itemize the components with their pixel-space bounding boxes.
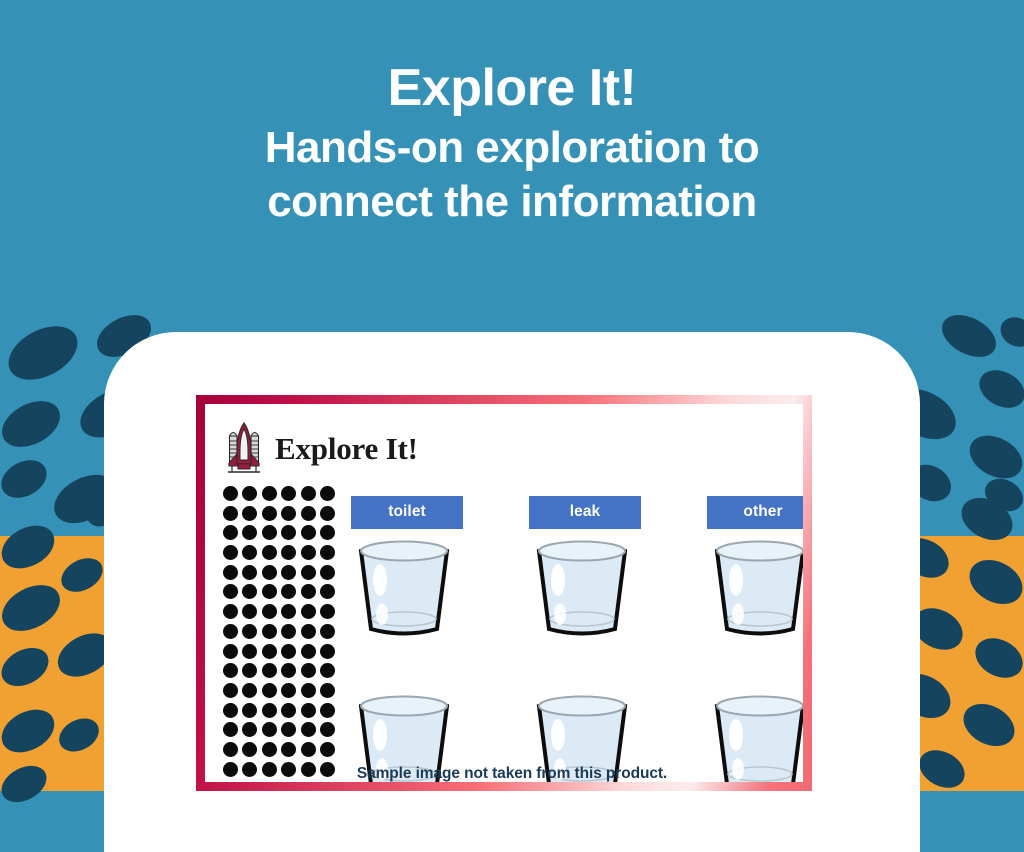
grid-dot [320,604,335,619]
grid-dot [301,722,316,737]
grid-dot [242,604,257,619]
grid-dot [223,683,238,698]
grid-dot [223,565,238,580]
grid-dot [320,663,335,678]
grid-dot [301,565,316,580]
grid-dot [320,486,335,501]
grid-dot [301,545,316,560]
grid-dot [320,683,335,698]
grid-dot [223,703,238,718]
grid-dot [281,624,296,639]
grid-dot [242,703,257,718]
grid-dot [242,545,257,560]
sample-image-caption: Sample image not taken from this product… [0,765,1024,783]
page-subtitle-line-1: Hands-on exploration to [265,123,760,172]
grid-dot [301,525,316,540]
grid-dot [301,506,316,521]
grid-dot [262,565,277,580]
grid-dot [242,506,257,521]
grid-dot [242,683,257,698]
grid-dot [223,644,238,659]
grid-dot [281,604,296,619]
grid-dot [301,703,316,718]
grid-dot [320,565,335,580]
grid-dot [242,584,257,599]
grid-dot [320,644,335,659]
grid-dot [320,584,335,599]
category-label-toilet[interactable]: toilet [351,496,463,529]
category-label-leak[interactable]: leak [529,496,641,529]
page-subtitle-line-2: connect the information [267,177,757,226]
grid-dot [262,525,277,540]
worksheet-page: Explore It! toilet [205,404,803,782]
grid-dot [320,703,335,718]
water-glass-icon [529,539,635,639]
grid-dot [281,742,296,757]
grid-dot [242,663,257,678]
grid-dot [301,486,316,501]
grid-dot [301,644,316,659]
grid-dot [262,703,277,718]
grid-dot [223,663,238,678]
grid-dot [320,525,335,540]
grid-dot [242,565,257,580]
confetti-ellipse [956,696,1022,755]
grid-dot [262,683,277,698]
counter-dot-grid [223,486,339,781]
grid-dot [223,584,238,599]
grid-dot [223,545,238,560]
glass-slot[interactable] [529,539,641,639]
grid-dot [301,624,316,639]
grid-dot [242,644,257,659]
category-label-other[interactable]: other [707,496,803,529]
grid-dot [262,604,277,619]
confetti-ellipse [962,427,1024,487]
space-shuttle-icon [227,422,261,474]
worksheet-frame: Explore It! toilet [196,395,812,791]
grid-dot [301,584,316,599]
category-column-toilet: toilet [351,496,463,782]
confetti-ellipse [935,306,1003,365]
grid-dot [223,604,238,619]
grid-dot [223,525,238,540]
grid-dot [281,506,296,521]
grid-dot [281,722,296,737]
grid-dot [281,545,296,560]
grid-dot [223,742,238,757]
grid-dot [301,683,316,698]
grid-dot [281,663,296,678]
grid-dot [262,584,277,599]
grid-dot [301,742,316,757]
grid-dot [320,722,335,737]
grid-dot [320,624,335,639]
grid-dot [281,644,296,659]
grid-dot [281,486,296,501]
grid-dot [281,525,296,540]
grid-dot [242,624,257,639]
grid-dot [223,486,238,501]
grid-dot [262,545,277,560]
confetti-ellipse [995,312,1024,353]
grid-dot [242,486,257,501]
grid-dot [242,722,257,737]
grid-dot [262,663,277,678]
grid-dot [281,683,296,698]
grid-dot [281,584,296,599]
grid-dot [262,644,277,659]
grid-dot [262,486,277,501]
headline-block: Explore It! Hands-on exploration toconne… [0,62,1024,228]
water-glass-icon [707,539,803,639]
page-subtitle: Hands-on exploration toconnect the infor… [0,121,1024,228]
grid-dot [320,545,335,560]
grid-dot [262,722,277,737]
confetti-ellipse [968,630,1024,685]
grid-dot [223,506,238,521]
category-column-leak: leak [529,496,641,782]
grid-dot [223,722,238,737]
grid-dot [320,742,335,757]
grid-dot [301,663,316,678]
category-columns: toilet [351,496,793,782]
water-glass-icon [351,539,457,639]
grid-dot [281,703,296,718]
grid-dot [242,742,257,757]
category-column-other: other [707,496,803,782]
confetti-ellipse [973,363,1024,416]
page-title: Explore It! [0,62,1024,115]
grid-dot [242,525,257,540]
grid-dot [223,624,238,639]
grid-dot [281,565,296,580]
worksheet-header: Explore It! [227,422,418,474]
grid-dot [320,506,335,521]
confetti-ellipse [962,551,1024,613]
grid-dot [262,742,277,757]
grid-dot [262,506,277,521]
worksheet-title: Explore It! [275,433,418,464]
grid-dot [262,624,277,639]
grid-dot [301,604,316,619]
glass-slot[interactable] [707,539,803,639]
glass-slot[interactable] [351,539,463,639]
